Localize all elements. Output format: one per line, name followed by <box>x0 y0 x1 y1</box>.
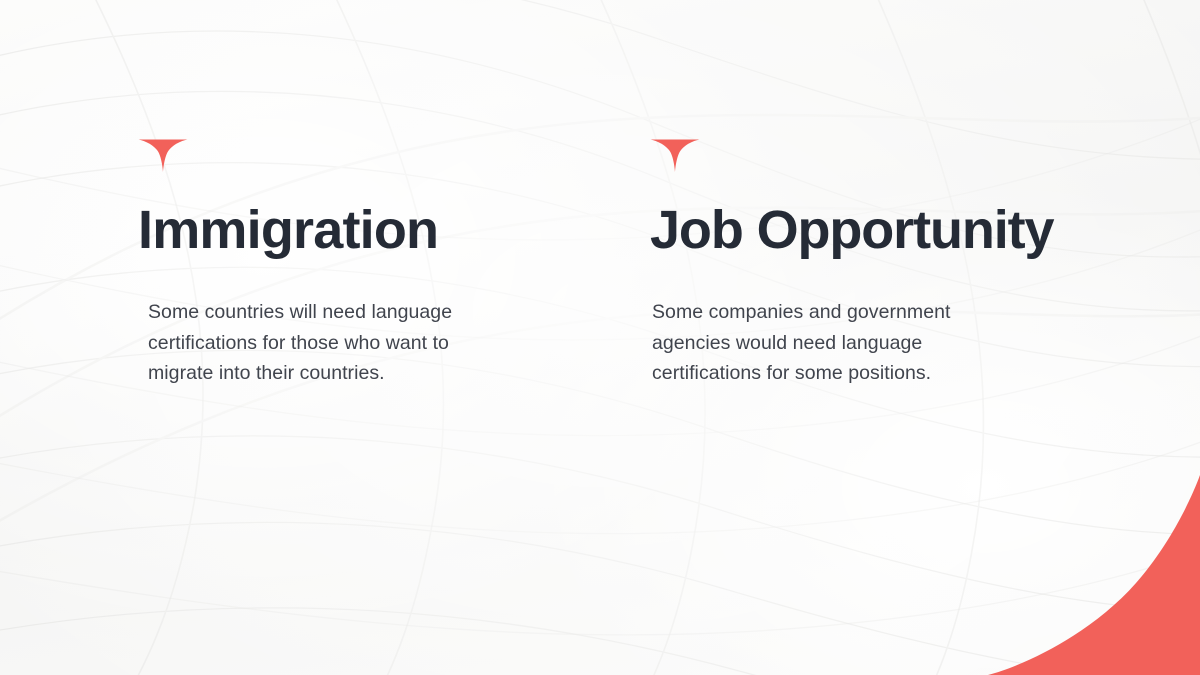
body-text-immigration: Some countries will need language certif… <box>148 297 500 389</box>
slide-canvas: Immigration Some countries will need lan… <box>0 0 1200 675</box>
page-title-job-opportunity: Job Opportunity <box>650 202 1090 259</box>
column-job-opportunity: Job Opportunity Some companies and gover… <box>650 138 1090 389</box>
red-triangle-marker-icon <box>650 138 700 172</box>
column-immigration: Immigration Some countries will need lan… <box>138 138 558 389</box>
red-triangle-marker-icon <box>138 138 188 172</box>
page-title-immigration: Immigration <box>138 202 558 259</box>
content-columns: Immigration Some countries will need lan… <box>0 0 1200 675</box>
body-text-job-opportunity: Some companies and government agencies w… <box>652 297 972 389</box>
